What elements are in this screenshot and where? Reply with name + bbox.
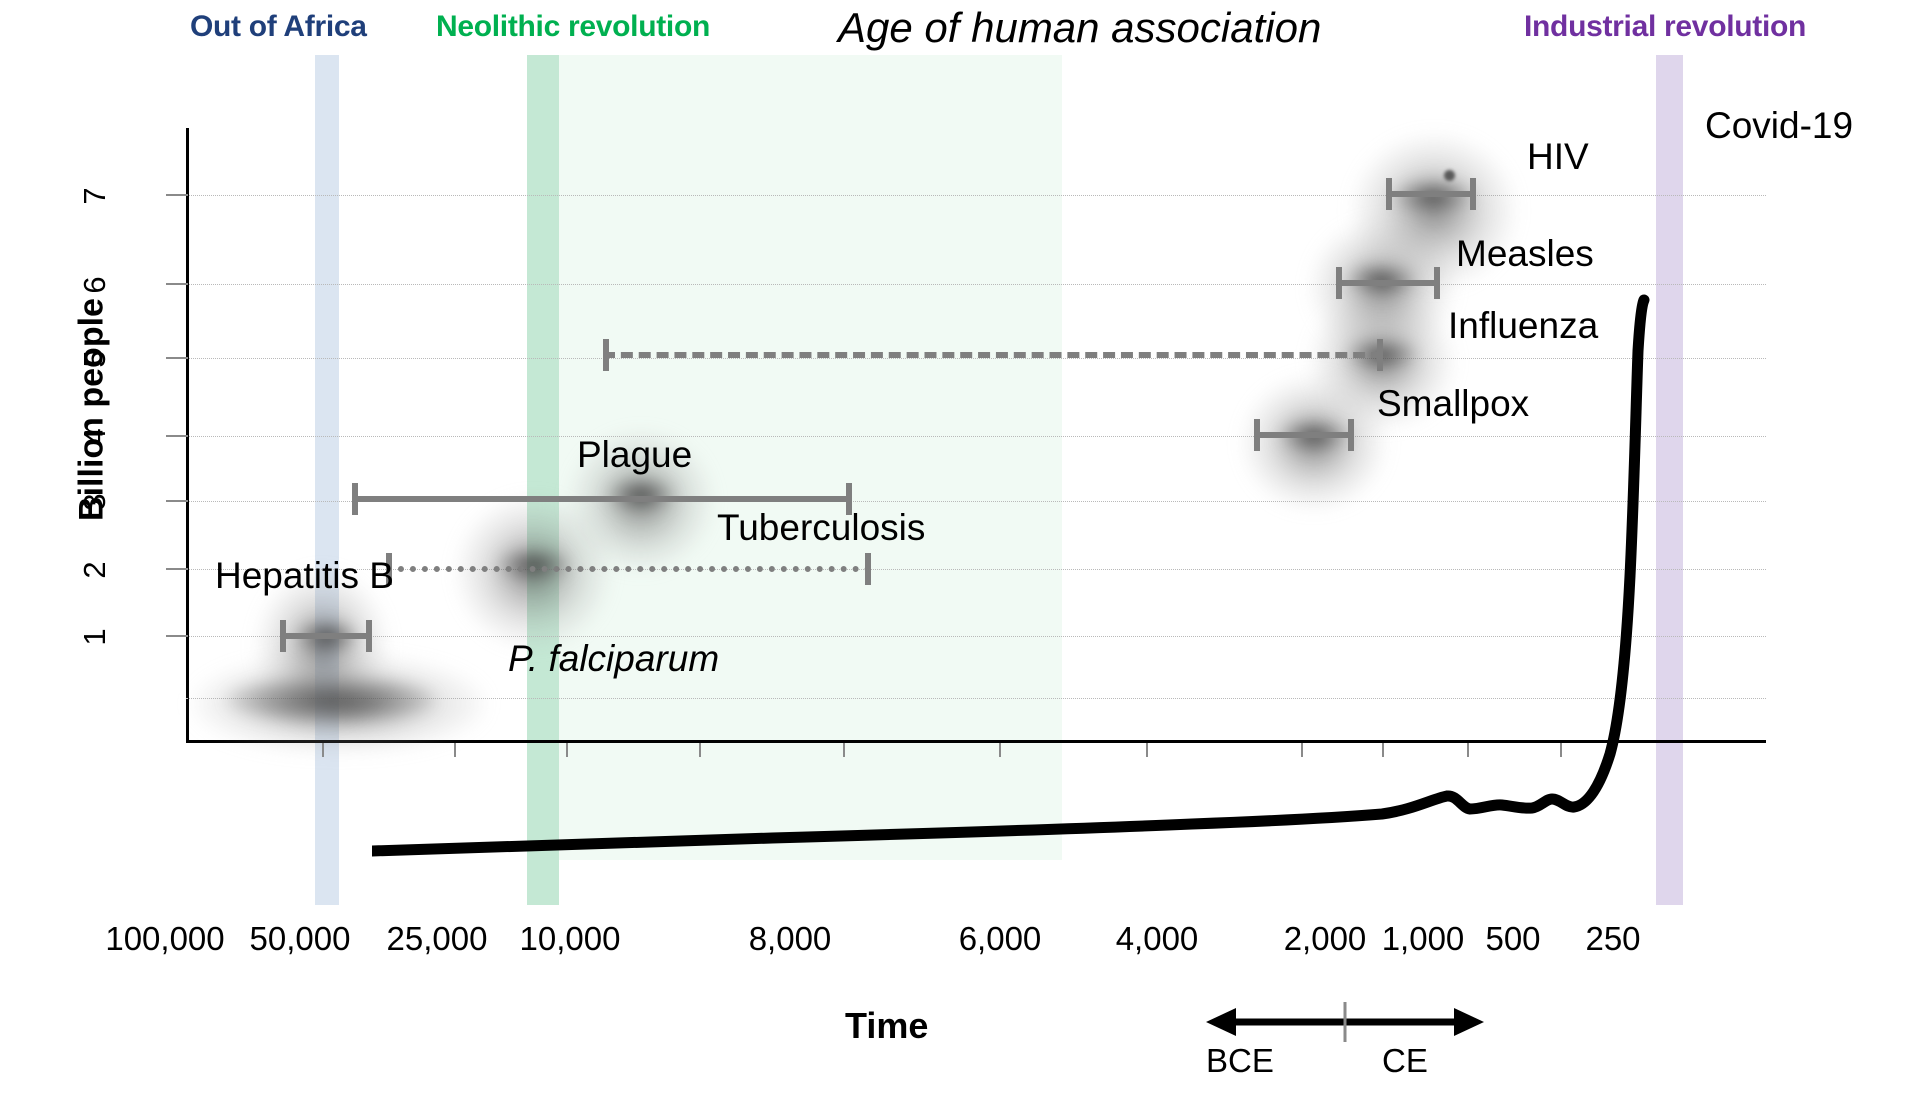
y-tick-label-7: 7 [77,176,113,216]
y-tick-mark-3 [166,500,188,502]
x-tick-label-250: 250 [1585,920,1640,958]
x-tick-mark-4000 [1146,743,1148,757]
x-tick-label-25000: 25,000 [387,920,488,958]
disease-label-influenza: Influenza [1448,305,1598,347]
disease-marker-covid-19 [1444,170,1455,181]
disease-label-p-falciparum: P. falciparum [508,638,719,680]
disease-cloud-core-hiv [1394,180,1472,214]
y-tick-mark-4 [166,435,188,437]
whisker-hiv [1386,191,1476,197]
disease-label-smallpox: Smallpox [1377,383,1529,425]
whisker-cap-right [1470,178,1476,210]
x-tick-label-500: 500 [1485,920,1540,958]
x-tick-mark-6000 [999,743,1001,757]
x-tick-mark-250 [1560,743,1562,757]
whisker-cap-left [1386,178,1392,210]
whisker-bar [280,633,372,639]
chart-title: Age of human association [838,4,1321,52]
disease-label-tuberculosis: Tuberculosis [717,507,925,549]
x-tick-label-8000: 8,000 [749,920,832,958]
x-tick-label-6000: 6,000 [959,920,1042,958]
era-label-out-of-africa: Out of Africa [190,10,367,44]
x-axis-title: Time [845,1005,928,1047]
y-tick-mark-1 [166,635,188,637]
population-curve [372,256,1910,871]
x-tick-mark-500 [1467,743,1469,757]
x-tick-mark-10000 [699,743,701,757]
y-tick-label-5: 5 [77,339,113,379]
whisker-bar [1386,191,1476,197]
chart-canvas: Out of Africa Neolithic revolution Indus… [0,0,1910,1098]
x-tick-label-1000: 1,000 [1382,920,1465,958]
y-tick-mark-2 [166,568,188,570]
whisker-cap-left [352,483,358,515]
x-tick-mark-2000 [1301,743,1303,757]
ce-label: CE [1382,1042,1428,1080]
y-tick-label-6: 6 [77,265,113,305]
y-tick-mark-6 [166,283,188,285]
era-label-industrial-revolution: Industrial revolution [1524,10,1806,44]
disease-label-hiv: HIV [1527,136,1589,178]
y-tick-mark-5 [166,357,188,359]
y-tick-label-3: 3 [77,482,113,522]
disease-label-measles: Measles [1456,233,1594,275]
x-tick-mark-50000 [454,743,456,757]
x-tick-label-50000: 50,000 [250,920,351,958]
x-tick-label-2000: 2,000 [1284,920,1367,958]
whisker-cap-left [280,620,286,652]
y-tick-label-4: 4 [77,417,113,457]
y-tick-label-1: 1 [77,617,113,657]
gridline-7 [186,195,1766,196]
x-tick-mark-8000 [843,743,845,757]
x-tick-label-4000: 4,000 [1116,920,1199,958]
disease-label-plague: Plague [577,434,692,476]
disease-label-hepatitis-b: Hepatitis B [215,555,394,597]
x-tick-mark-1000 [1382,743,1384,757]
y-tick-label-2: 2 [77,550,113,590]
y-tick-mark-7 [166,194,188,196]
bce-label: BCE [1206,1042,1274,1080]
plot-area [186,128,1766,743]
bce-ce-annotation: BCE CE [1200,1000,1490,1095]
x-tick-mark-100000 [322,743,324,757]
x-tick-label-10000: 10,000 [520,920,621,958]
x-tick-mark-25000 [566,743,568,757]
era-label-neolithic-revolution: Neolithic revolution [436,10,710,44]
x-tick-label-100000: 100,000 [105,920,224,958]
disease-label-covid-19: Covid-19 [1705,105,1853,147]
whisker-hepatitis-b [280,633,372,639]
